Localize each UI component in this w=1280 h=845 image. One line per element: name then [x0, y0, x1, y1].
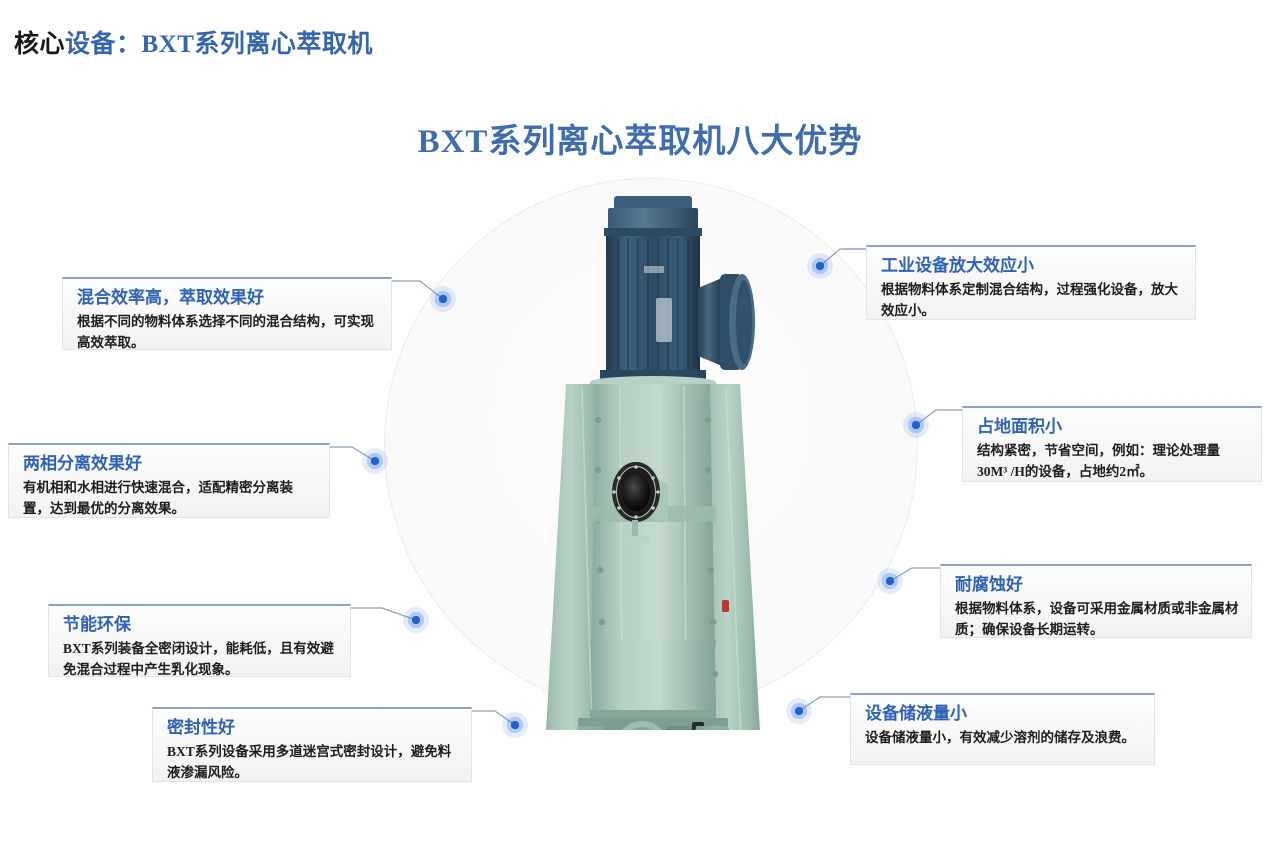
connector-dot-8 — [786, 698, 812, 724]
slide-root: 核心设备：BXT系列离心萃取机 BXT系列离心萃取机八大优势 — [0, 0, 1280, 845]
callout-desc: BXT系列设备采用多道迷宫式密封设计，避免料液渗漏风险。 — [167, 742, 459, 784]
callout-title: 占地面积小 — [977, 416, 1249, 439]
connector-dot-1 — [430, 286, 456, 312]
callout-footprint[interactable]: 占地面积小 结构紧密，节省空间，例如：理论处理量 30M³ /H的设备，占地约2… — [962, 406, 1262, 482]
connector-dot-2 — [362, 448, 388, 474]
callout-title: 设备储液量小 — [865, 703, 1142, 726]
callout-desc: 根据物料体系定制混合结构，过程强化设备，放大效应小。 — [881, 280, 1183, 322]
callout-title: 混合效率高，萃取效果好 — [77, 287, 379, 310]
callout-liquid-holdup[interactable]: 设备储液量小 设备储液量小，有效减少溶剂的储存及浪费。 — [850, 693, 1155, 765]
callout-title: 节能环保 — [63, 614, 338, 637]
callout-desc: 根据不同的物料体系选择不同的混合结构，可实现高效萃取。 — [77, 312, 379, 354]
connector-dot-5 — [807, 253, 833, 279]
connector-dot-7 — [877, 568, 903, 594]
callout-energy-saving[interactable]: 节能环保 BXT系列装备全密闭设计，能耗低，且有效避免混合过程中产生乳化现象。 — [48, 604, 351, 677]
callout-desc: 根据物料体系，设备可采用金属材质或非金属材质；确保设备长期运转。 — [955, 599, 1239, 641]
callout-title: 两相分离效果好 — [23, 453, 317, 476]
callout-desc: 结构紧密，节省空间，例如：理论处理量 30M³ /H的设备，占地约2㎡。 — [977, 441, 1249, 483]
callout-sealing[interactable]: 密封性好 BXT系列设备采用多道迷宫式密封设计，避免料液渗漏风险。 — [152, 707, 472, 782]
callout-corrosion-resistance[interactable]: 耐腐蚀好 根据物料体系，设备可采用金属材质或非金属材质；确保设备长期运转。 — [940, 564, 1252, 638]
callout-title: 密封性好 — [167, 717, 459, 740]
connector-dot-6 — [903, 412, 929, 438]
callout-desc-line2: 30M³ /H的设备，占地约2㎡。 — [977, 464, 1153, 479]
callout-mixing-efficiency[interactable]: 混合效率高，萃取效果好 根据不同的物料体系选择不同的混合结构，可实现高效萃取。 — [62, 277, 392, 350]
callout-title: 耐腐蚀好 — [955, 574, 1239, 597]
callout-scale-up-effect[interactable]: 工业设备放大效应小 根据物料体系定制混合结构，过程强化设备，放大效应小。 — [866, 245, 1196, 320]
connector-dot-4 — [502, 712, 528, 738]
callout-desc: BXT系列装备全密闭设计，能耗低，且有效避免混合过程中产生乳化现象。 — [63, 639, 338, 681]
callout-phase-separation[interactable]: 两相分离效果好 有机相和水相进行快速混合，适配精密分离装置，达到最优的分离效果。 — [8, 443, 330, 518]
callout-desc: 设备储液量小，有效减少溶剂的储存及浪费。 — [865, 728, 1142, 749]
callout-desc: 有机相和水相进行快速混合，适配精密分离装置，达到最优的分离效果。 — [23, 478, 317, 520]
callout-title: 工业设备放大效应小 — [881, 255, 1183, 278]
callout-desc-line1: 结构紧密，节省空间，例如：理论处理量 — [977, 443, 1220, 458]
connector-dot-3 — [403, 607, 429, 633]
